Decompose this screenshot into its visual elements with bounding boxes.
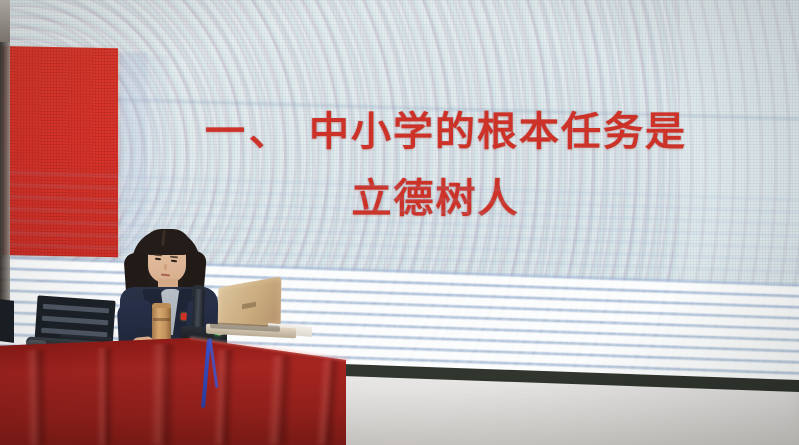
tablecloth-fold (96, 348, 114, 445)
chair-slat (43, 304, 109, 314)
desk-microphone-stem (192, 289, 204, 329)
tablecloth-fold (266, 355, 295, 445)
presentation-photo: 一、中小学的根本任务是 立德树人 (0, 0, 799, 445)
nose (164, 264, 167, 270)
chair-slat (42, 316, 108, 326)
thermos-band (153, 318, 170, 321)
tablecloth-fold (25, 350, 49, 445)
thermos-cap (152, 303, 171, 308)
wall-left-edge (0, 0, 10, 330)
tablecloth-fold (212, 350, 235, 445)
wall-left-edge-highlight (0, 0, 10, 42)
hair-top (143, 229, 191, 255)
tablecloth-fold (149, 344, 177, 445)
chair-side-panel (0, 299, 14, 343)
